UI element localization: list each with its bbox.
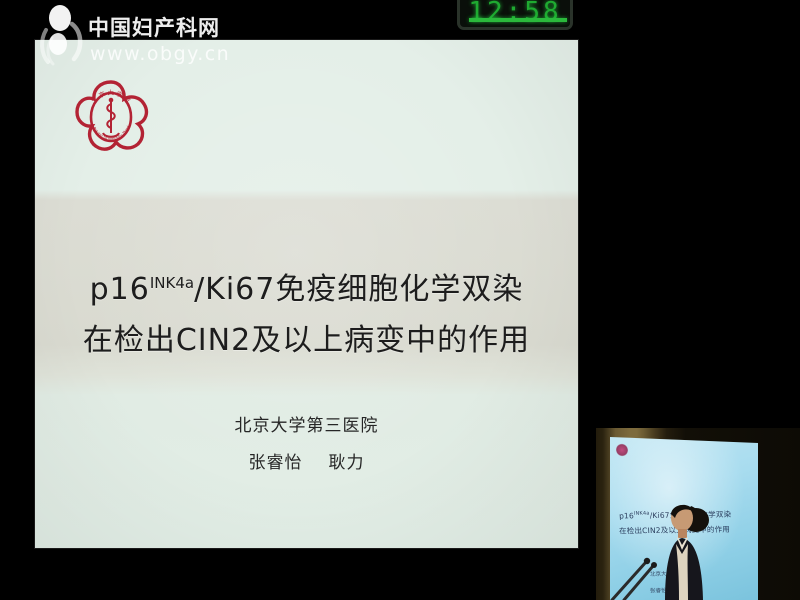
- watermark-site-name: 中国妇产科网: [88, 12, 220, 42]
- slide-author-block: 北京大学第三医院 张睿怡耿力: [35, 408, 578, 482]
- microphone-icon: [606, 554, 668, 600]
- video-frame: 北 京 大 学 第 三 医 院 Peking University Third …: [0, 0, 800, 600]
- title-rest: /Ki67免疫细胞化学双染: [194, 272, 523, 307]
- slide-affiliation: 北京大学第三医院: [35, 408, 578, 445]
- slide-title: p16INK4a/Ki67免疫细胞化学双染 在检出CIN2及以上病变中的作用: [35, 258, 578, 366]
- timer-underline-bar: [469, 18, 567, 22]
- pip-title-gene: p16: [619, 511, 634, 520]
- author-name-2: 耿力: [329, 453, 365, 473]
- hospital-emblem-logo: 北 京 大 学 第 三 医 院 Peking University Third …: [73, 76, 149, 166]
- pip-letterbox-left: [588, 413, 596, 600]
- title-gene-name: p16: [90, 272, 150, 307]
- countdown-timer-panel: 12:58: [457, 0, 573, 30]
- slide-title-line-1: p16INK4a/Ki67免疫细胞化学双染: [35, 258, 578, 315]
- pip-title-sup: INK4a: [634, 511, 650, 517]
- speaker-camera-pip[interactable]: p16INK4a/Ki67免疫细胞化学双染 在检出CIN2及以上病变中的作用 北…: [588, 413, 800, 600]
- title-superscript: INK4a: [150, 274, 194, 292]
- presentation-slide: 北 京 大 学 第 三 医 院 Peking University Third …: [35, 40, 578, 548]
- slide-title-line-2: 在检出CIN2及以上病变中的作用: [35, 315, 578, 366]
- author-name-1: 张睿怡: [249, 453, 303, 473]
- pip-letterbox-top: [588, 413, 800, 428]
- slide-author-names: 张睿怡耿力: [35, 445, 578, 482]
- pip-hospital-emblem: [616, 443, 629, 456]
